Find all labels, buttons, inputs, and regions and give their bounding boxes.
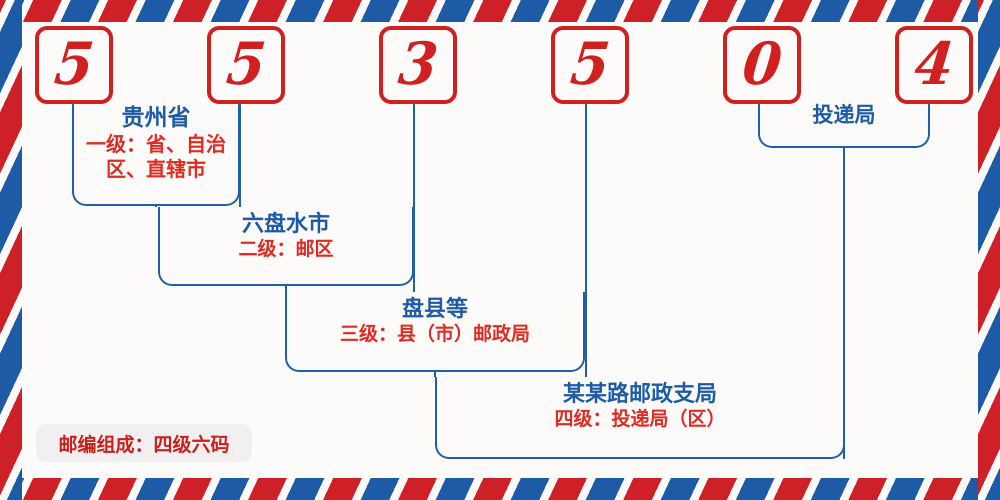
box-level-4: 某某路邮政支局 四级：投递局（区） [435, 377, 845, 459]
postcode-diagram: 5 5 3 5 0 4 投递局 贵州省 一级：省、自治区、直辖市 六盘水市 二级… [0, 0, 1000, 500]
digit-glyph-3: 3 [396, 36, 439, 94]
level-3-title: 盘县等 [287, 296, 583, 323]
level-3-subtitle: 三级：县（市）邮政局 [287, 323, 583, 347]
box-level-3: 盘县等 三级：县（市）邮政局 [285, 292, 585, 372]
digit-glyph-2: 5 [224, 36, 267, 94]
level-2-subtitle: 二级：邮区 [160, 238, 412, 262]
digit-box-6[interactable]: 4 [895, 26, 973, 104]
digit-box-3[interactable]: 3 [379, 26, 457, 104]
digit-glyph-1: 5 [52, 36, 95, 94]
digit-glyph-6: 4 [912, 36, 955, 94]
digit-glyph-5: 0 [740, 36, 783, 94]
box-level-1: 贵州省 一级：省、自治区、直辖市 [72, 100, 240, 206]
level-1-title: 贵州省 [74, 104, 238, 132]
caption-text: 邮编组成：四级六码 [58, 430, 229, 457]
digit-box-2[interactable]: 5 [207, 26, 285, 104]
digit-box-1[interactable]: 5 [35, 26, 113, 104]
level-4-title: 某某路邮政支局 [437, 381, 843, 408]
digit-box-5[interactable]: 0 [723, 26, 801, 104]
level-4-subtitle: 四级：投递局（区） [437, 408, 843, 432]
level-2-title: 六盘水市 [160, 211, 412, 238]
delivery-office-title: 投递局 [760, 100, 928, 128]
digit-glyph-4: 5 [568, 36, 611, 94]
level-1-subtitle: 一级：省、自治区、直辖市 [74, 132, 238, 182]
digit-box-4[interactable]: 5 [551, 26, 629, 104]
box-level-2: 六盘水市 二级：邮区 [158, 207, 414, 286]
caption-chip: 邮编组成：四级六码 [36, 424, 252, 462]
